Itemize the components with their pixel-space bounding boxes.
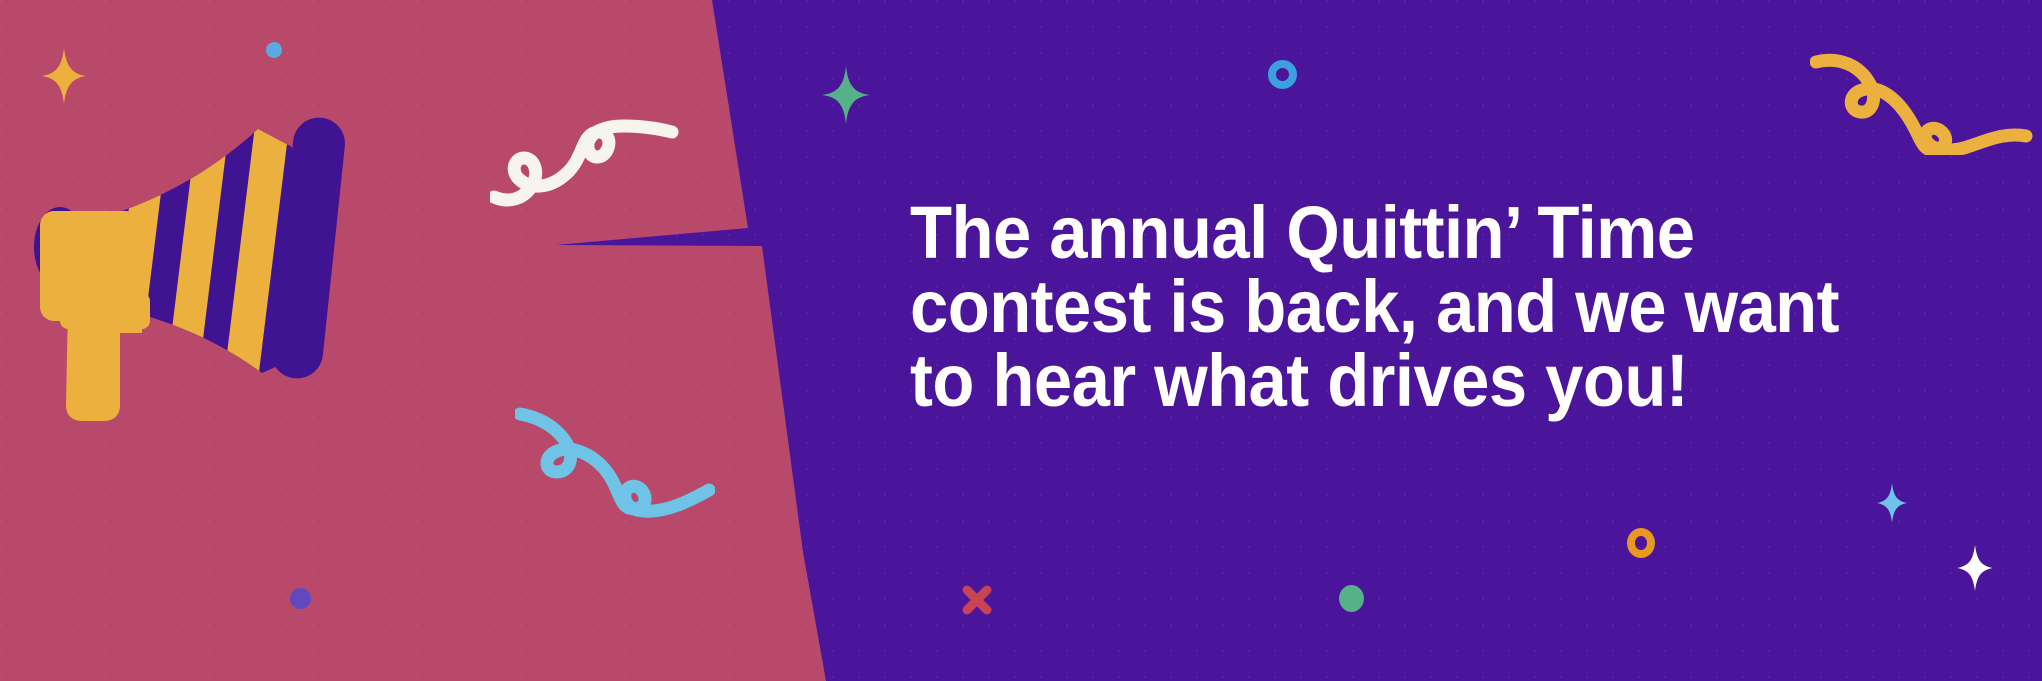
promo-banner: The annual Quittin’ Time contest is back… <box>0 0 2042 681</box>
headline-container: The annual Quittin’ Time contest is back… <box>910 196 1950 418</box>
white-sparkle-icon <box>1957 545 1993 591</box>
violet-dot-icon <box>290 588 311 609</box>
lightblue-sparkle-icon <box>1877 483 1907 523</box>
red-cross-icon <box>962 585 992 615</box>
yellow-sparkle-icon <box>42 48 86 104</box>
orange-ring-icon <box>1627 528 1655 558</box>
banner-headline: The annual Quittin’ Time contest is back… <box>910 196 1877 418</box>
green-sparkle-icon <box>822 66 870 124</box>
megaphone-illustration <box>30 95 450 435</box>
green-dot-icon <box>1339 585 1364 612</box>
white-squiggle-icon <box>490 100 680 210</box>
blue-ring-icon <box>1268 60 1297 89</box>
blue-squiggle-icon <box>515 400 715 520</box>
blue-dot-icon <box>266 42 282 58</box>
gold-squiggle-icon <box>1810 40 2035 155</box>
